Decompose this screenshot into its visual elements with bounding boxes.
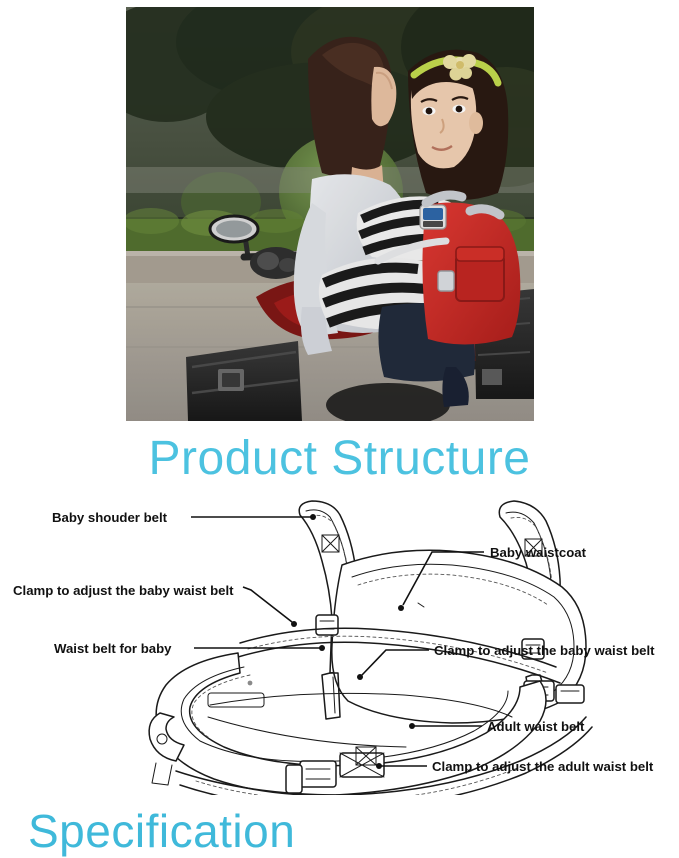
callout-clamp-baby-waist-left: Clamp to adjust the baby waist belt bbox=[13, 583, 297, 627]
callout-label-clamp-baby-waist-right: Clamp to adjust the baby waist belt bbox=[434, 643, 655, 658]
callout-label-clamp-adult-waist-belt: Clamp to adjust the adult waist belt bbox=[432, 759, 654, 774]
callout-label-adult-waist-belt: Adult waist belt bbox=[487, 719, 585, 734]
hero-photo-illustration bbox=[126, 7, 534, 421]
callout-label-clamp-baby-waist-left: Clamp to adjust the baby waist belt bbox=[13, 583, 234, 598]
callout-label-baby-shoulder-belt: Baby shouder belt bbox=[52, 510, 168, 525]
callout-label-waist-belt-for-baby: Waist belt for baby bbox=[54, 641, 172, 656]
velcro-tab bbox=[208, 693, 264, 707]
callout-baby-shoulder-belt: Baby shouder belt bbox=[52, 510, 316, 525]
harness-line-drawing: Baby shouder belt Clamp to adjust the ba… bbox=[0, 495, 679, 795]
hero-photo bbox=[126, 7, 534, 421]
specification-heading: Specification bbox=[28, 804, 295, 858]
clamp-baby-waist-left bbox=[316, 615, 338, 635]
callout-waist-belt-for-baby: Waist belt for baby bbox=[54, 641, 325, 656]
callout-label-baby-waistcoat: Baby waistcoat bbox=[490, 545, 587, 560]
product-structure-diagram: Baby shouder belt Clamp to adjust the ba… bbox=[0, 495, 679, 795]
product-structure-heading: Product Structure bbox=[0, 431, 679, 487]
